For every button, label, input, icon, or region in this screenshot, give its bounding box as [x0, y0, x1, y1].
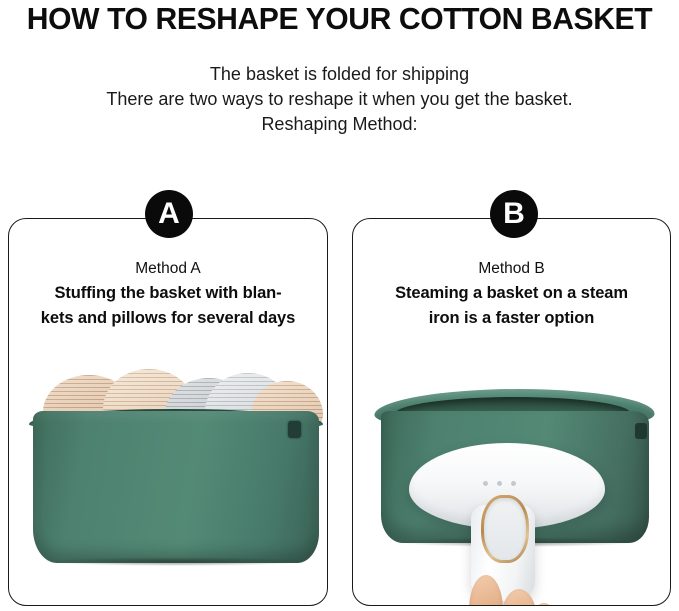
method-card-b[interactable]: Method B Steaming a basket on a steam ir… [352, 218, 671, 606]
method-badge-b[interactable]: B [490, 190, 538, 238]
method-a-photo [9, 219, 327, 605]
subtitle-block: The basket is folded for shipping There … [0, 62, 679, 137]
page-title: HOW TO RESHAPE YOUR COTTON BASKET [10, 0, 669, 38]
subtitle-line-1: The basket is folded for shipping [0, 62, 679, 87]
basket-a-shadow [45, 557, 307, 566]
empty-basket-illustration [365, 381, 661, 581]
steamer-indicator-led-3 [511, 481, 516, 486]
basket-a-handle-slot [288, 421, 301, 438]
subtitle-line-2: There are two ways to reshape it when yo… [0, 87, 679, 112]
subtitle-line-3: Reshaping Method: [0, 112, 679, 137]
infographic-page: HOW TO RESHAPE YOUR COTTON BASKET The ba… [0, 0, 679, 611]
garment-steamer [409, 443, 609, 606]
filled-basket-illustration [19, 369, 319, 574]
method-b-photo [353, 219, 670, 605]
steamer-power-button [481, 495, 529, 563]
method-badge-a[interactable]: A [145, 190, 193, 238]
basket-a-body [33, 411, 319, 563]
basket-b-handle-slot [635, 423, 647, 439]
method-card-a[interactable]: Method A Stuffing the basket with blan- … [8, 218, 328, 606]
steamer-indicator-led-2 [497, 481, 502, 486]
steamer-indicator-led-1 [483, 481, 488, 486]
